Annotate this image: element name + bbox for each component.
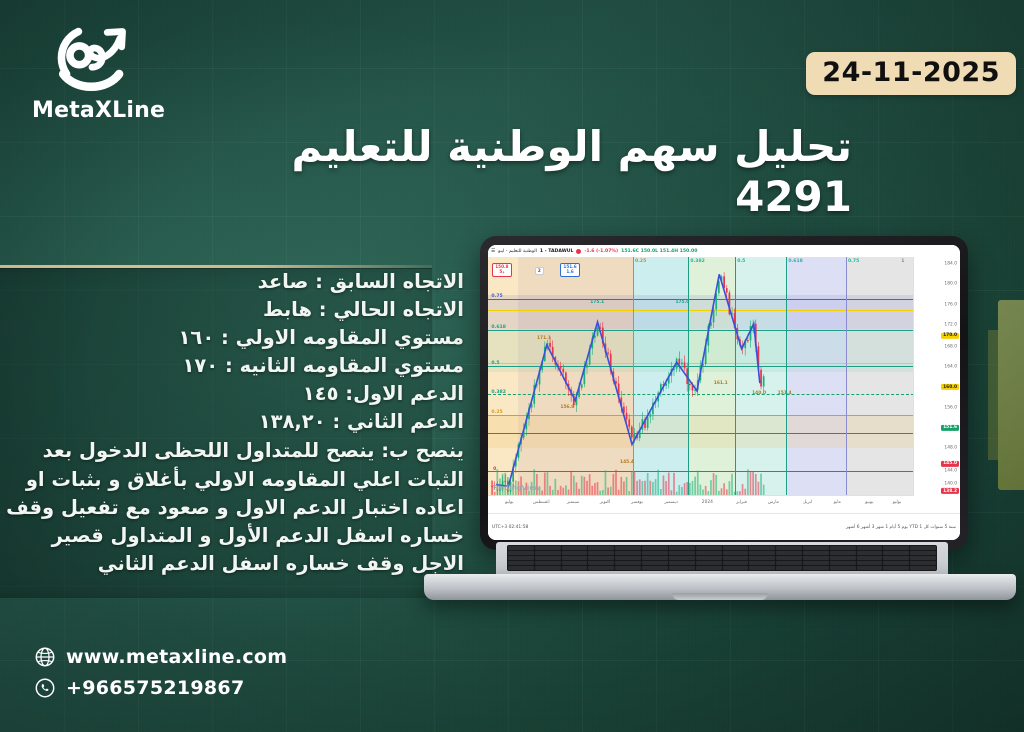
- keyboard-row: [508, 551, 936, 555]
- time-tick-5: ديسمبر: [664, 500, 677, 505]
- keyboard-row: [508, 566, 936, 570]
- laptop-lid: ☰ الوطنية للتعليم - ايبو 1 - TADAWUL -1.…: [480, 236, 968, 550]
- keyboard-key: [562, 556, 588, 560]
- page-title: تحليل سهم الوطنية للتعليم 4291: [162, 122, 852, 223]
- keyboard-key: [696, 551, 722, 555]
- fib-left-label-0: 0.75: [491, 294, 502, 299]
- footer-contact: www.metaxline.com +966575219867: [34, 646, 287, 708]
- keyboard-key: [883, 561, 909, 565]
- market-closed-dot-icon: [576, 249, 581, 254]
- time-tick-0: يوليو: [505, 500, 513, 505]
- keyboard-key: [508, 561, 534, 565]
- laptop-screen: ☰ الوطنية للتعليم - ايبو 1 - TADAWUL -1.…: [488, 245, 960, 540]
- keyboard-key: [615, 556, 641, 560]
- time-tick-11: يونيو: [865, 500, 873, 505]
- chart-range-selector[interactable]: يوم 5 أيام 1 شهر 3 أشهر 6 أشهر YTD 1 سنة…: [846, 525, 956, 530]
- chart-ohlc: 151.6C 150.0L 151.4H 150.00: [621, 249, 697, 254]
- keyboard-key: [776, 551, 802, 555]
- analysis-line-3: مستوي المقاومه الثانيه : ١٧٠: [2, 352, 464, 380]
- price-axis[interactable]: 184.0 180.0 176.0 172.0 170.0 168.0 164.…: [913, 257, 960, 496]
- time-tick-6: 2024: [702, 500, 713, 505]
- keyboard-key: [776, 561, 802, 565]
- keyboard-key: [830, 561, 856, 565]
- last-price-sub: 5د: [499, 269, 504, 274]
- keyboard-key: [857, 566, 883, 570]
- scale-toggle-badge[interactable]: 2: [535, 267, 544, 276]
- swing-label-7: 151.4: [778, 391, 792, 396]
- keyboard-key: [696, 561, 722, 565]
- keyboard-key: [723, 561, 749, 565]
- price-tick-4: 168.0: [944, 344, 957, 349]
- analysis-line-5: الدعم الثاني : ١٣٨,٢٠: [2, 408, 464, 436]
- support-1-badge: 145.0: [941, 461, 959, 467]
- keyboard-key: [535, 566, 561, 570]
- website-text: www.metaxline.com: [66, 646, 287, 668]
- laptop-base-lip: [672, 593, 768, 600]
- keyboard-key: [535, 561, 561, 565]
- keyboard-key: [535, 546, 561, 550]
- keyboard-key: [615, 546, 641, 550]
- time-tick-12: يوليو: [893, 500, 901, 505]
- bid-price-sub: 1.6: [566, 269, 573, 274]
- swing-label-4: 145.4: [620, 460, 634, 465]
- footer-phone-row[interactable]: +966575219867: [34, 677, 287, 699]
- volume-histogram: [488, 467, 914, 496]
- price-tick-8: 144.0: [944, 468, 957, 473]
- keyboard-key: [803, 566, 829, 570]
- analysis-text-block: الاتجاه السابق : صاعد الاتجاه الحالي : ه…: [2, 268, 464, 578]
- keyboard-key: [749, 561, 775, 565]
- swing-label-6: 140.0: [752, 391, 766, 396]
- keyboard-key: [883, 551, 909, 555]
- keyboard-key: [508, 566, 534, 570]
- keyboard-key: [723, 551, 749, 555]
- resistance-1-badge: 160.0: [941, 384, 959, 390]
- time-tick-8: مارس: [768, 500, 779, 505]
- time-tick-3: اكتوبر: [600, 500, 611, 505]
- time-tick-4: نوفمبر: [631, 500, 643, 505]
- bid-price-badge: 151.6 1.6: [560, 263, 579, 277]
- laptop-keyboard: [496, 542, 948, 574]
- keyboard-key: [535, 551, 561, 555]
- analysis-line-2: مستوي المقاومه الاولي : ١٦٠: [2, 324, 464, 352]
- keyboard-key: [615, 551, 641, 555]
- keyboard-key: [562, 561, 588, 565]
- brand-name: MetaXLine: [32, 98, 158, 123]
- swing-label-3: 156.8: [560, 405, 574, 410]
- keyboard-key: [830, 566, 856, 570]
- fib-left-label-4: 0.25: [491, 410, 502, 415]
- keyboard-key: [749, 551, 775, 555]
- keyboard-row: [508, 556, 936, 560]
- date-badge: 24-11-2025: [806, 52, 1016, 95]
- keyboard-key: [588, 561, 614, 565]
- keyboard-key: [857, 546, 883, 550]
- resistance-2-badge: 170.0: [941, 333, 959, 339]
- swing-label-1: 175.1: [590, 300, 604, 305]
- keyboard-key: [642, 556, 668, 560]
- fib-top-label-4: 0.75: [848, 259, 859, 264]
- candlestick-series: [488, 257, 914, 496]
- keyboard-key: [669, 561, 695, 565]
- keyboard-key: [535, 556, 561, 560]
- keyboard-key: [669, 551, 695, 555]
- keyboard-key: [588, 556, 614, 560]
- fib-left-label-1: 0.618: [491, 325, 506, 330]
- last-price-badge: 150.8 5د: [492, 263, 511, 277]
- keyboard-key: [669, 556, 695, 560]
- price-tick-1: 180.0: [944, 282, 957, 287]
- phone-text: +966575219867: [66, 677, 244, 699]
- analysis-line-0: الاتجاه السابق : صاعد: [2, 268, 464, 296]
- keyboard-key: [696, 546, 722, 550]
- keyboard-key: [723, 556, 749, 560]
- chart-symbol-name-ar: الوطنية للتعليم - ايبو: [498, 249, 537, 254]
- chart-menu-icon[interactable]: ☰: [491, 249, 495, 254]
- tradingview-watermark: TradingView: [492, 484, 541, 492]
- fib-top-label-3: 0.618: [788, 259, 803, 264]
- swing-label-5: 161.1: [714, 381, 728, 386]
- time-tick-10: مايو: [834, 500, 841, 505]
- metaxline-arrow-logo-icon: [40, 18, 144, 96]
- tradingview-chart[interactable]: ☰ الوطنية للتعليم - ايبو 1 - TADAWUL -1.…: [488, 245, 960, 540]
- time-axis[interactable]: يوليو اغسطس سبتمبر اكتوبر نوفمبر ديسمبر …: [488, 495, 914, 514]
- price-tick-0: 184.0: [944, 262, 957, 267]
- keyboard-key: [696, 566, 722, 570]
- time-tick-9: ابريل: [803, 500, 812, 505]
- keyboard-key: [803, 551, 829, 555]
- keyboard-key: [830, 551, 856, 555]
- keyboard-key: [883, 546, 909, 550]
- time-tick-2: سبتمبر: [567, 500, 580, 505]
- price-tick-9: 140.0: [944, 482, 957, 487]
- keyboard-key: [910, 551, 936, 555]
- keyboard-key: [669, 566, 695, 570]
- keyboard-key: [723, 546, 749, 550]
- keyboard-key: [830, 556, 856, 560]
- keyboard-key: [615, 566, 641, 570]
- keyboard-key: [642, 546, 668, 550]
- keyboard-key: [910, 546, 936, 550]
- keyboard-key: [642, 551, 668, 555]
- keyboard-key: [562, 566, 588, 570]
- keyboard-key: [776, 566, 802, 570]
- chart-footer: UTC+3 02:41:58 يوم 5 أيام 1 شهر 3 أشهر 6…: [488, 513, 960, 540]
- keyboard-key: [588, 566, 614, 570]
- brand-logo: MetaXLine: [32, 18, 182, 123]
- keyboard-key: [857, 556, 883, 560]
- globe-icon: [34, 646, 56, 668]
- swing-label-0: 171.1: [537, 336, 551, 341]
- analysis-recommendation: ينصح ب: ينصح للمتداول اللحظى الدخول بعد …: [2, 437, 464, 577]
- chart-symbol: 1 - TADAWUL: [540, 249, 574, 254]
- keyboard-key: [749, 546, 775, 550]
- chart-plot-area[interactable]: 171.1 175.1 175.0 156.8 145.4 161.1 140.…: [488, 257, 914, 496]
- time-tick-1: اغسطس: [533, 500, 550, 505]
- footer-website-row[interactable]: www.metaxline.com: [34, 646, 287, 668]
- keyboard-key: [776, 546, 802, 550]
- keyboard-key: [910, 561, 936, 565]
- price-tick-3: 172.0: [944, 323, 957, 328]
- keyboard-key: [696, 556, 722, 560]
- fib-left-label-2: 0.5: [491, 361, 499, 366]
- keyboard-key: [803, 556, 829, 560]
- keyboard-key: [910, 566, 936, 570]
- keyboard-key: [883, 566, 909, 570]
- keyboard-key: [508, 546, 534, 550]
- keyboard-key: [857, 561, 883, 565]
- fib-top-label-2: 0.5: [737, 259, 745, 264]
- price-tick-7: 148.0: [944, 446, 957, 451]
- analysis-line-4: الدعم الاول: ١٤٥: [2, 380, 464, 408]
- keyboard-row: [508, 546, 936, 550]
- keyboard-key: [642, 561, 668, 565]
- support-2-badge: 138.2: [941, 488, 959, 494]
- analysis-line-1: الاتجاه الحالي : هابط: [2, 296, 464, 324]
- keyboard-key: [776, 556, 802, 560]
- scale-label: 2: [538, 268, 541, 273]
- keyboard-key: [803, 546, 829, 550]
- keyboard-key: [508, 556, 534, 560]
- keyboard-key: [615, 561, 641, 565]
- keyboard-key: [642, 566, 668, 570]
- price-tick-5: 164.0: [944, 364, 957, 369]
- chart-timezone[interactable]: UTC+3 02:41:58: [492, 525, 528, 530]
- keyboard-key: [562, 546, 588, 550]
- swing-label-2: 175.0: [675, 300, 689, 305]
- time-tick-7: فبراير: [736, 500, 747, 505]
- keyboard-key: [857, 551, 883, 555]
- keyboard-key: [723, 566, 749, 570]
- price-tick-2: 176.0: [944, 302, 957, 307]
- fib-left-label-3: 0.382: [491, 390, 506, 395]
- price-tick-6: 156.0: [944, 405, 957, 410]
- keyboard-key: [562, 551, 588, 555]
- keyboard-row: [508, 561, 936, 565]
- keyboard-key: [830, 546, 856, 550]
- fib-top-label-0: 0.25: [635, 259, 646, 264]
- laptop-mockup: ☰ الوطنية للتعليم - ايبو 1 - TADAWUL -1.…: [424, 236, 1016, 656]
- current-price-badge: 151.6: [941, 425, 959, 431]
- keyboard-key: [803, 561, 829, 565]
- whatsapp-icon: [34, 677, 56, 699]
- keyboard-key: [883, 556, 909, 560]
- keyboard-key: [508, 551, 534, 555]
- keyboard-key: [588, 551, 614, 555]
- keyboard-key: [749, 566, 775, 570]
- fib-top-label-5: 1: [901, 259, 904, 264]
- fib-top-label-1: 0.382: [690, 259, 705, 264]
- keyboard-key: [669, 546, 695, 550]
- chart-change: -1.6 (-1.07%): [584, 249, 618, 254]
- keyboard-key: [588, 546, 614, 550]
- keyboard-key: [749, 556, 775, 560]
- keyboard-key: [910, 556, 936, 560]
